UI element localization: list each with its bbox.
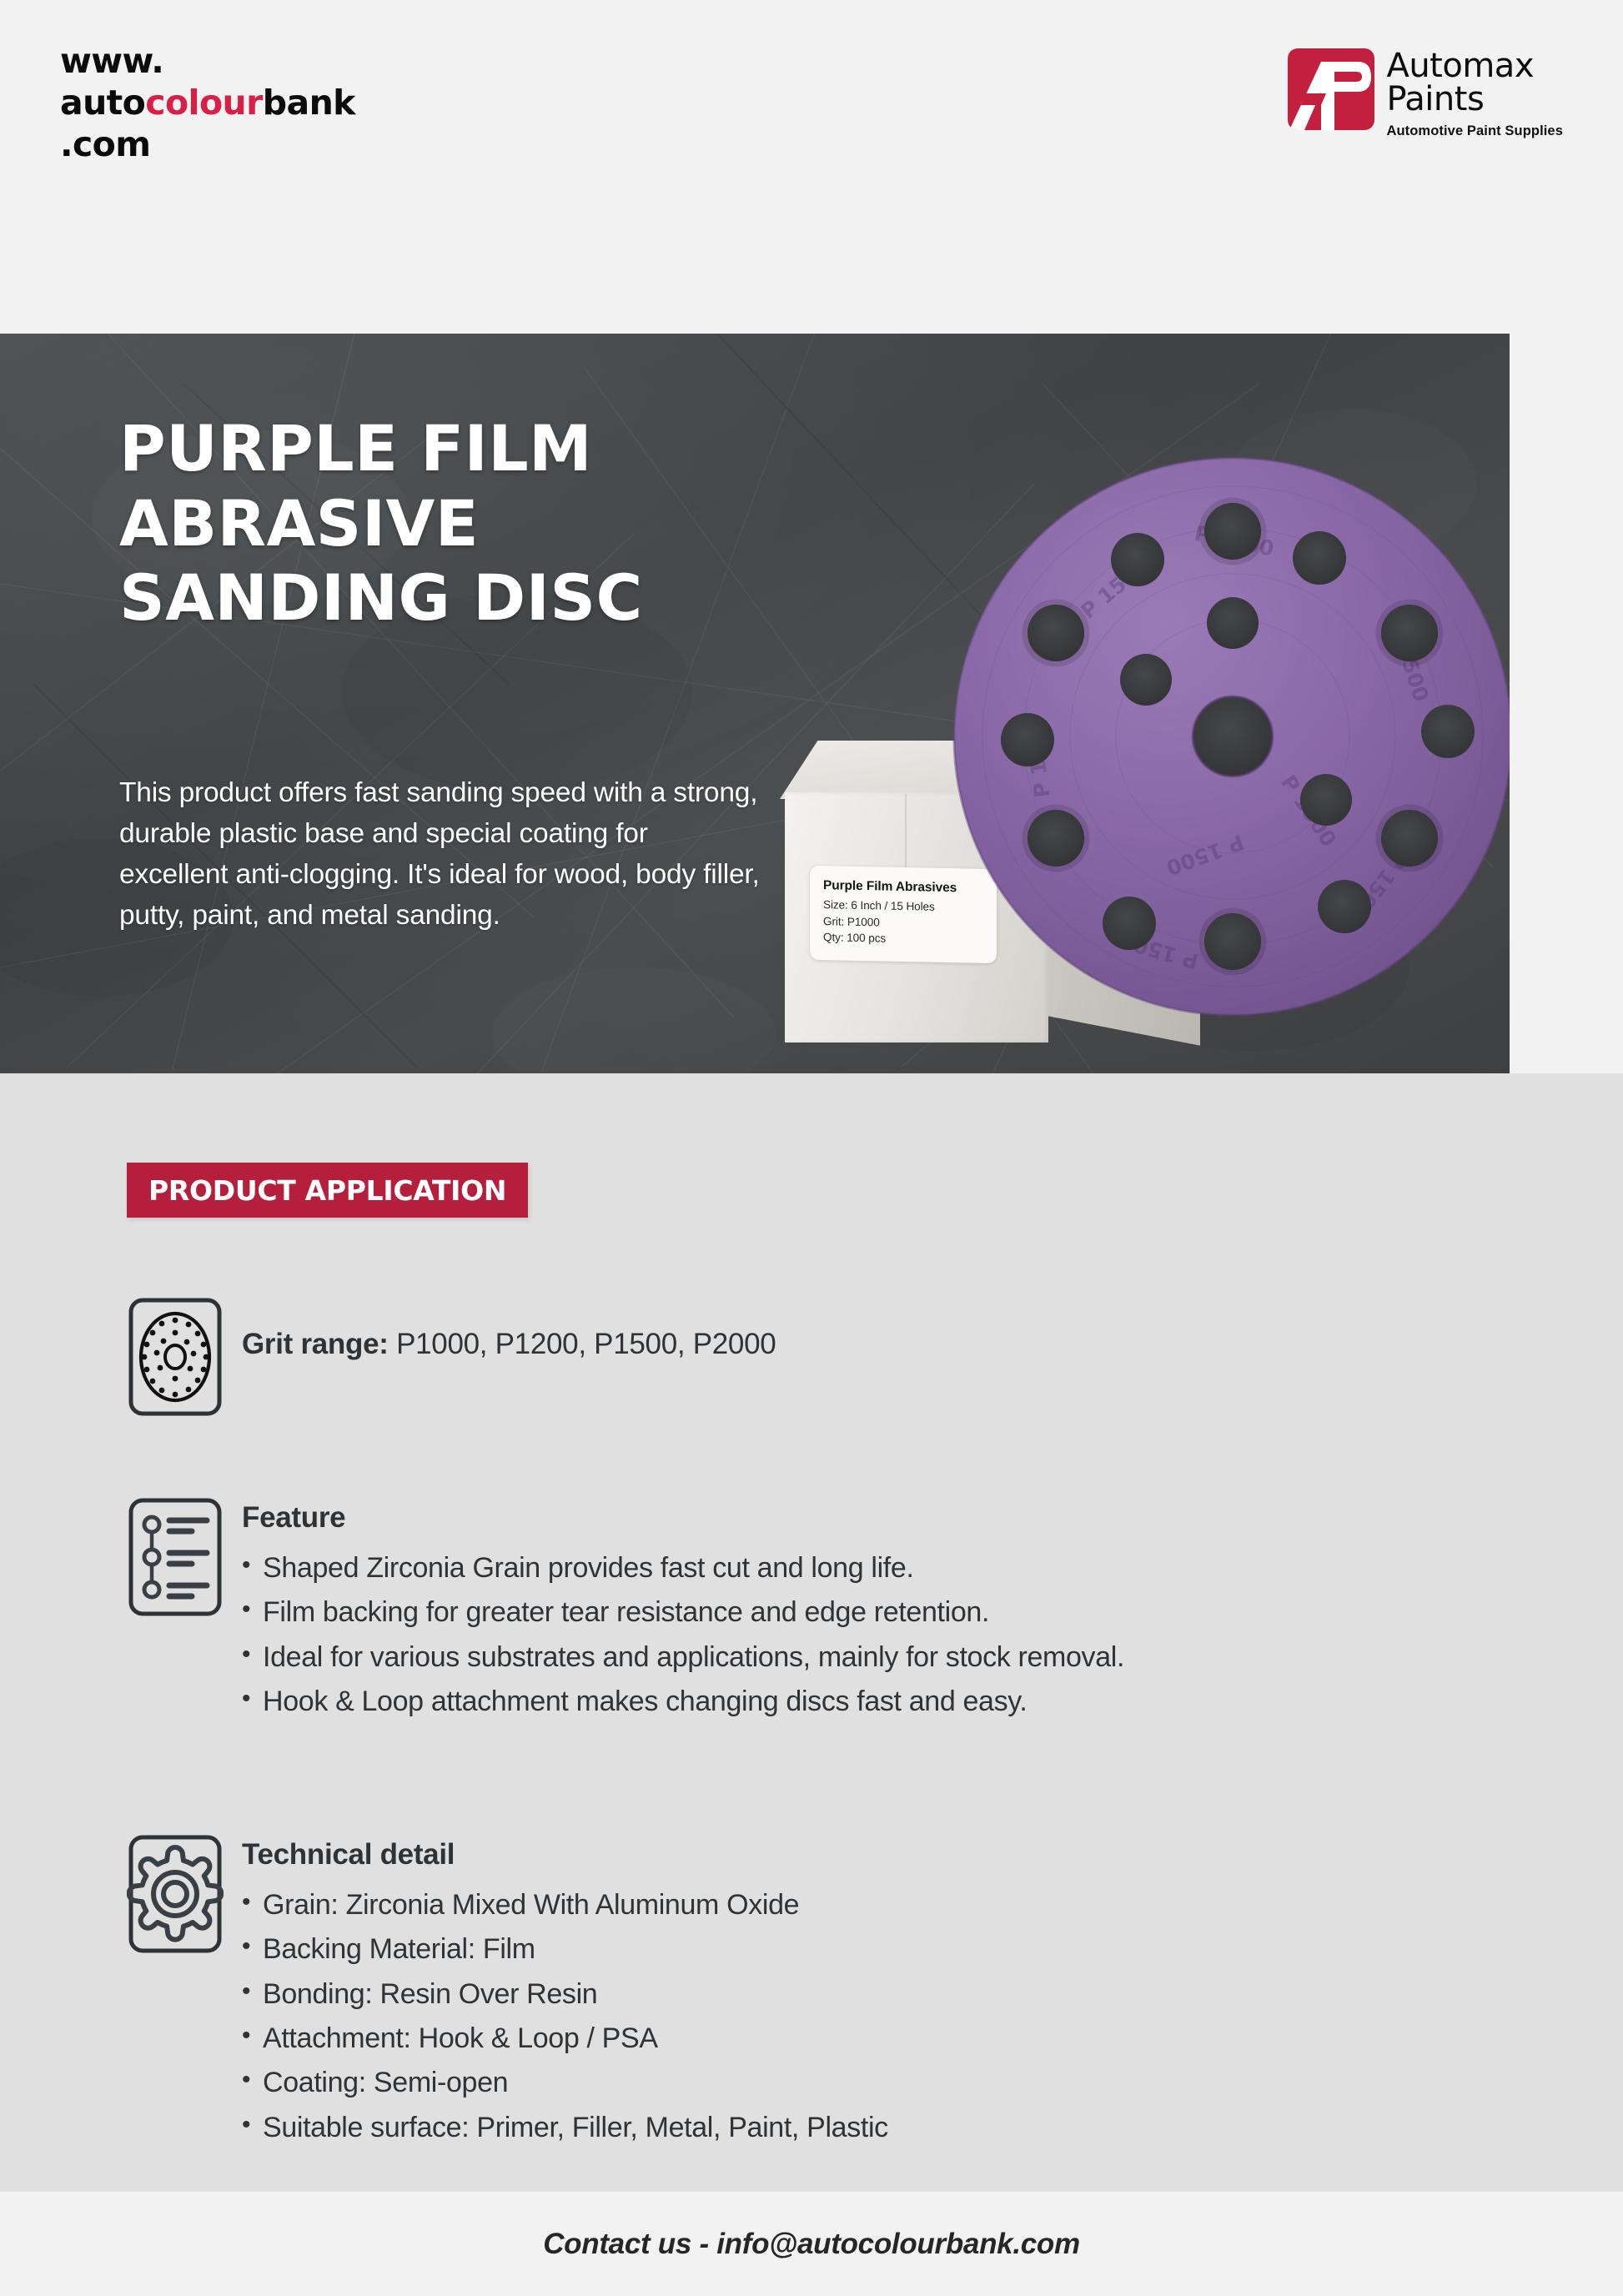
- site-logo-line1: www.: [60, 40, 355, 82]
- brand-name-line2: Paints: [1386, 83, 1563, 117]
- feature-body: Feature Shaped Zirconia Grain provides f…: [242, 1495, 1124, 1724]
- product-application-badge: PRODUCT APPLICATION: [127, 1163, 528, 1218]
- site-logo-line3: .com: [60, 123, 355, 165]
- hero-right-margin: [1510, 334, 1623, 1073]
- footer-contact: Contact us - info@autocolourbank.com: [543, 2228, 1080, 2261]
- feature-list: Shaped Zirconia Grain provides fast cut …: [242, 1546, 1124, 1725]
- list-item: Attachment: Hook & Loop / PSA: [242, 2017, 888, 2061]
- product-photo: Purple Film Abrasives Size: 6 Inch / 15 …: [734, 334, 1510, 1093]
- technical-icon-slot: [108, 1831, 242, 1955]
- list-item: Backing Material: Film: [242, 1927, 888, 1972]
- grit-range-text: Grit range: P1000, P1200, P1500, P2000: [242, 1299, 776, 1361]
- hero-title-line2: ABRASIVE: [119, 486, 643, 561]
- footer: Contact us - info@autocolourbank.com: [0, 2192, 1623, 2296]
- grit-range-body: Grit range: P1000, P1200, P1500, P2000: [242, 1294, 776, 1361]
- technical-list: Grain: Zirconia Mixed With Aluminum Oxid…: [242, 1883, 888, 2150]
- list-item: Bonding: Resin Over Resin: [242, 1972, 888, 2017]
- brand-name-line1: Automax: [1386, 50, 1563, 83]
- list-item: Suitable surface: Primer, Filler, Metal,…: [242, 2106, 888, 2150]
- brand-words: Automax Paints Automotive Paint Supplies: [1386, 48, 1563, 139]
- grit-range-label: Grit range:: [242, 1328, 389, 1360]
- hero-title: PURPLE FILM ABRASIVE SANDING DISC: [119, 411, 643, 636]
- site-logo: www. autocolourbank .com: [60, 40, 355, 165]
- technical-body: Technical detail Grain: Zirconia Mixed W…: [242, 1831, 888, 2150]
- feature-title: Feature: [242, 1500, 1124, 1536]
- brand-logo: Automax Paints Automotive Paint Supplies: [1288, 48, 1563, 139]
- brand-tagline: Automotive Paint Supplies: [1386, 123, 1563, 139]
- technical-detail-row: Technical detail Grain: Zirconia Mixed W…: [108, 1831, 888, 2150]
- sanding-disc-icon: [127, 1296, 224, 1418]
- grit-icon-slot: [108, 1294, 242, 1418]
- product-datasheet-page: www. autocolourbank .com Automax Paints …: [0, 0, 1623, 2296]
- list-item: Film backing for greater tear resistance…: [242, 1590, 1124, 1635]
- site-logo-line2: autocolourbank: [60, 82, 355, 123]
- grit-range-row: Grit range: P1000, P1200, P1500, P2000: [108, 1294, 776, 1418]
- checklist-icon: [127, 1496, 224, 1618]
- header-band: www. autocolourbank .com Automax Paints …: [0, 0, 1623, 334]
- list-item: Hook & Loop attachment makes changing di…: [242, 1680, 1124, 1724]
- grit-range-values: P1000, P1200, P1500, P2000: [396, 1328, 776, 1360]
- list-item: Grain: Zirconia Mixed With Aluminum Oxid…: [242, 1883, 888, 1927]
- gear-icon: [127, 1833, 224, 1955]
- feature-row: Feature Shaped Zirconia Grain provides f…: [108, 1495, 1124, 1724]
- site-logo-colour: colour: [145, 83, 263, 123]
- hero-banner: PURPLE FILM ABRASIVE SANDING DISC This p…: [0, 334, 1510, 1093]
- feature-icon-slot: [108, 1495, 242, 1618]
- site-logo-auto: auto: [60, 83, 145, 123]
- hero-title-line3: SANDING DISC: [119, 560, 643, 636]
- automax-ap-monogram-icon: [1288, 48, 1374, 130]
- list-item: Shaped Zirconia Grain provides fast cut …: [242, 1546, 1124, 1590]
- purple-sanding-disc: P 1500 P 1500 P 1500 P 1500 P 1500 P 150…: [952, 456, 1510, 1017]
- site-logo-bank: bank: [263, 83, 355, 123]
- product-application-label: PRODUCT APPLICATION: [148, 1174, 506, 1207]
- hero-title-line1: PURPLE FILM: [119, 411, 643, 486]
- list-item: Coating: Semi-open: [242, 2061, 888, 2105]
- hero-description: This product offers fast sanding speed w…: [119, 773, 761, 937]
- list-item: Ideal for various substrates and applica…: [242, 1635, 1124, 1680]
- technical-title: Technical detail: [242, 1836, 888, 1873]
- box-seam: [905, 794, 907, 869]
